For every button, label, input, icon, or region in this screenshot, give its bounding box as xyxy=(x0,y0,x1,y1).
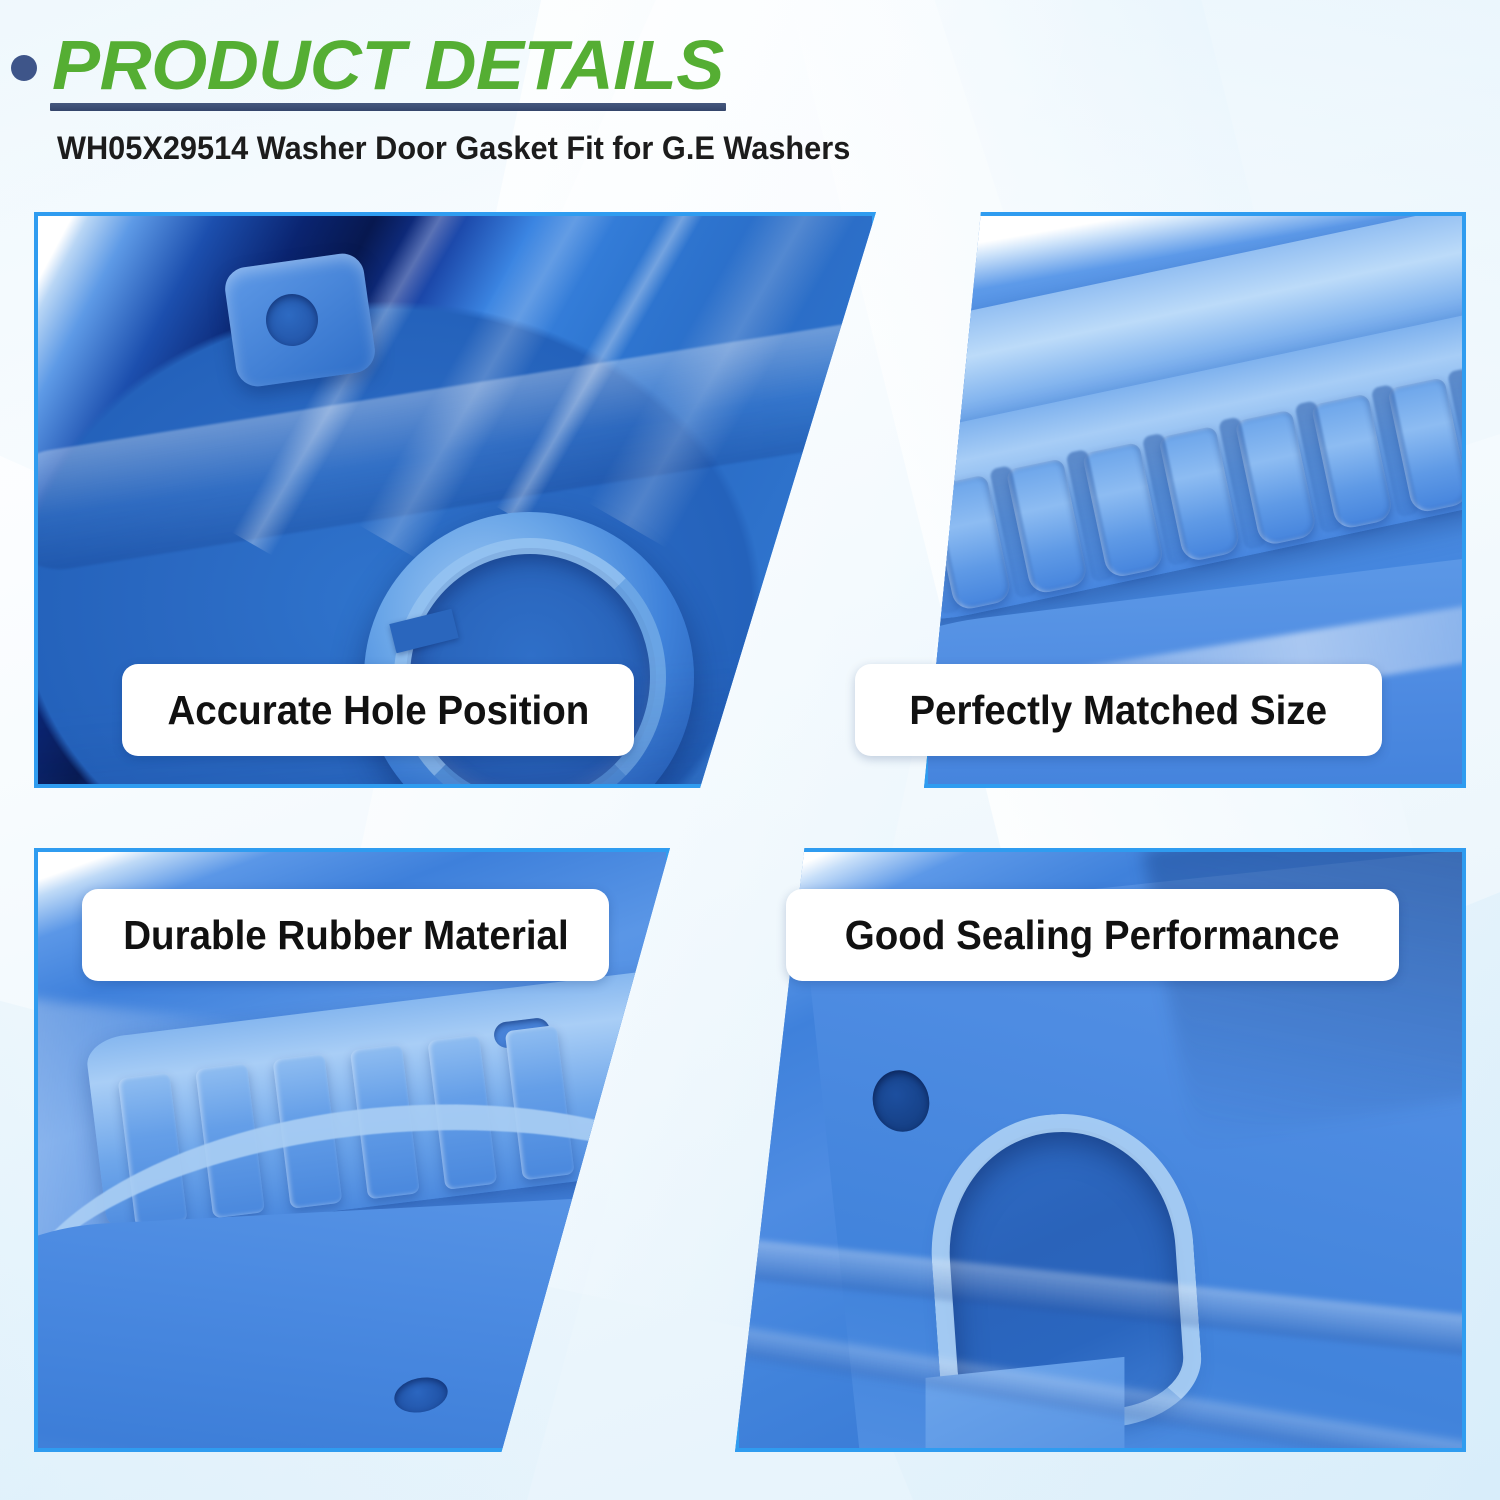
bullet-dot-icon xyxy=(11,55,37,81)
page-title: PRODUCT DETAILS xyxy=(52,26,724,104)
caption-accurate-hole-position: Accurate Hole Position xyxy=(122,664,634,756)
caption-text: Perfectly Matched Size xyxy=(910,687,1328,734)
caption-text: Durable Rubber Material xyxy=(123,912,568,959)
photo-rib xyxy=(1463,361,1466,498)
caption-durable-rubber-material: Durable Rubber Material xyxy=(82,889,609,981)
caption-perfectly-matched-size: Perfectly Matched Size xyxy=(855,664,1382,756)
title-underline-rule xyxy=(50,103,726,111)
caption-text: Good Sealing Performance xyxy=(845,912,1340,959)
product-subtitle: WH05X29514 Washer Door Gasket Fit for G.… xyxy=(57,128,850,168)
photo-rib xyxy=(924,491,936,628)
photo-body xyxy=(34,1185,670,1452)
caption-good-sealing-performance: Good Sealing Performance xyxy=(786,889,1399,981)
header: PRODUCT DETAILS WH05X29514 Washer Door G… xyxy=(0,0,1500,195)
caption-text: Accurate Hole Position xyxy=(167,687,589,734)
